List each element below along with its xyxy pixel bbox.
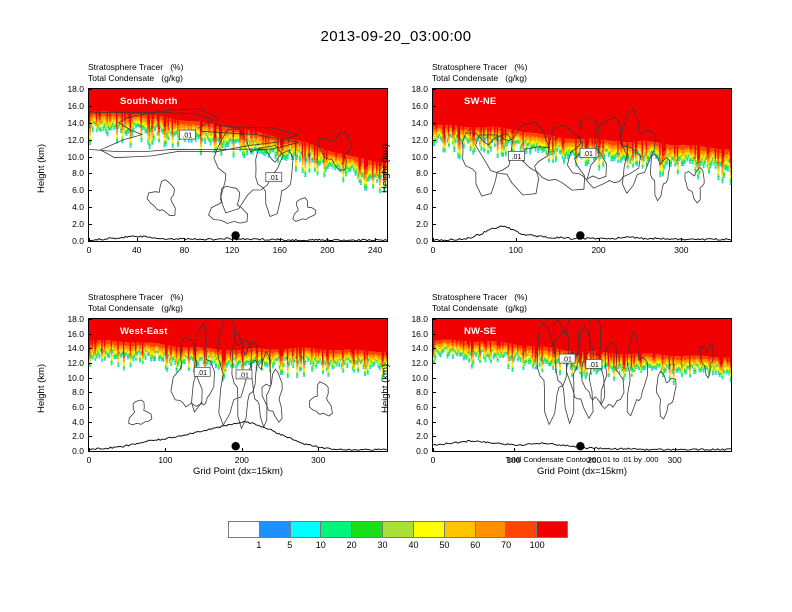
header-condensate-label: Total Condensate (g/kg) [432,73,527,84]
y-tick-label: 16.0 [54,101,84,111]
x-tick-mark [184,238,185,242]
x-tick-label: 200 [222,455,262,465]
colorbar-swatch-1 [260,522,291,537]
x-tick-label: 300 [661,245,701,255]
header-condensate-label: Total Condensate (g/kg) [432,303,527,314]
svg-text:.01: .01 [182,133,192,140]
y-tick-mark [432,157,436,158]
y-tick-label: 2.0 [54,219,84,229]
panel-header-west-east: Stratosphere Tracer (%)Total Condensate … [88,292,183,313]
colorbar-labels: 1510203040506070100 [228,540,568,554]
y-tick-mark [432,319,436,320]
x-tick-mark [433,238,434,242]
y-tick-label: 10.0 [398,152,428,162]
y-tick-mark [88,378,92,379]
x-tick-mark [89,448,90,452]
y-tick-mark [432,173,436,174]
y-tick-label: 18.0 [54,84,84,94]
x-tick-label: 100 [496,245,536,255]
y-tick-label: 2.0 [398,431,428,441]
x-tick-mark [599,238,600,242]
x-tick-label: 300 [298,455,338,465]
y-tick-label: 14.0 [398,343,428,353]
y-tick-label: 12.0 [398,135,428,145]
x-tick-label: 200 [579,245,619,255]
x-tick-mark [433,448,434,452]
y-tick-mark [432,89,436,90]
y-tick-mark [432,190,436,191]
figure-title: 2013-09-20_03:00:00 [0,28,792,45]
colorbar-tick-label: 40 [398,540,428,550]
panel-label-nw-se: NW-SE [464,326,496,337]
colorbar-swatch-8 [476,522,507,537]
y-tick-label: 14.0 [54,118,84,128]
colorbar-swatch-5 [383,522,414,537]
plot-render-sw-ne: .01.01 [433,89,731,241]
y-tick-label: 16.0 [398,101,428,111]
panel-header-sw-ne: Stratosphere Tracer (%)Total Condensate … [432,62,527,83]
x-tick-label: 160 [260,245,300,255]
x-tick-label: 0 [413,245,453,255]
y-tick-label: 12.0 [54,358,84,368]
x-tick-mark [516,238,517,242]
header-condensate-label: Total Condensate (g/kg) [88,303,183,314]
panel-header-nw-se: Stratosphere Tracer (%)Total Condensate … [432,292,527,313]
y-tick-mark [432,224,436,225]
y-tick-mark [88,89,92,90]
y-tick-label: 10.0 [398,373,428,383]
y-tick-label: 6.0 [398,185,428,195]
colorbar [228,521,568,538]
svg-text:.01: .01 [583,151,593,158]
colorbar-tick-label: 20 [337,540,367,550]
y-axis-title: Height (km) [36,144,47,193]
y-axis-title: Height (km) [380,364,391,413]
x-tick-mark [280,238,281,242]
y-tick-mark [88,157,92,158]
y-tick-mark [432,422,436,423]
y-tick-mark [432,363,436,364]
y-tick-mark [432,348,436,349]
x-tick-label: 100 [145,455,185,465]
y-tick-label: 4.0 [54,202,84,212]
y-tick-label: 10.0 [54,152,84,162]
y-tick-label: 4.0 [398,202,428,212]
colorbar-tick-label: 10 [306,540,336,550]
plot-area-west-east[interactable]: .01.01 [88,318,388,452]
colorbar-swatch-9 [506,522,537,537]
y-tick-label: 8.0 [398,387,428,397]
header-tracer-label: Stratosphere Tracer (%) [432,292,527,303]
y-tick-mark [88,140,92,141]
y-tick-mark [88,106,92,107]
x-axis-title: Grid Point (dx=15km) [432,466,732,477]
y-tick-mark [88,407,92,408]
colorbar-swatch-3 [321,522,352,537]
svg-text:.01: .01 [512,154,522,161]
y-tick-mark [88,173,92,174]
header-tracer-label: Stratosphere Tracer (%) [432,62,527,73]
colorbar-swatch-2 [291,522,322,537]
x-tick-mark [165,448,166,452]
y-tick-label: 16.0 [54,329,84,339]
y-tick-mark [432,207,436,208]
x-tick-label: 200 [307,245,347,255]
plot-area-sw-ne[interactable]: .01.01 [432,88,732,242]
colorbar-tick-label: 100 [522,540,552,550]
y-tick-mark [432,140,436,141]
plot-area-nw-se[interactable]: .01.01 [432,318,732,452]
panel-label-sw-ne: SW-NE [464,96,496,107]
y-tick-label: 4.0 [54,417,84,427]
y-tick-label: 18.0 [398,84,428,94]
y-tick-label: 4.0 [398,417,428,427]
y-tick-mark [432,334,436,335]
colorbar-swatch-6 [414,522,445,537]
y-tick-label: 8.0 [54,387,84,397]
y-tick-label: 6.0 [398,402,428,412]
y-tick-label: 8.0 [54,168,84,178]
y-tick-mark [88,422,92,423]
header-condensate-label: Total Condensate (g/kg) [88,73,183,84]
x-tick-mark [232,238,233,242]
y-tick-mark [432,436,436,437]
y-tick-mark [88,319,92,320]
y-tick-mark [88,392,92,393]
x-axis-title: Grid Point (dx=15km) [88,466,388,477]
x-tick-mark [137,238,138,242]
y-tick-label: 16.0 [398,329,428,339]
y-tick-mark [88,334,92,335]
y-tick-label: 2.0 [54,431,84,441]
panel-label-west-east: West-East [120,326,168,337]
colorbar-tick-label: 50 [429,540,459,550]
y-tick-label: 12.0 [54,135,84,145]
y-tick-label: 10.0 [54,373,84,383]
y-tick-label: 8.0 [398,168,428,178]
y-tick-mark [88,123,92,124]
x-tick-mark [675,448,676,452]
y-tick-mark [432,106,436,107]
y-tick-mark [432,392,436,393]
panel-label-south-north: South-North [120,96,178,107]
x-tick-mark [327,238,328,242]
y-tick-label: 12.0 [398,358,428,368]
colorbar-swatch-10 [537,522,567,537]
x-tick-label: 40 [117,245,157,255]
colorbar-tick-label: 70 [491,540,521,550]
header-tracer-label: Stratosphere Tracer (%) [88,62,183,73]
y-tick-label: 14.0 [54,343,84,353]
y-tick-mark [88,436,92,437]
panel-header-south-north: Stratosphere Tracer (%)Total Condensate … [88,62,183,83]
x-tick-mark [242,448,243,452]
header-tracer-label: Stratosphere Tracer (%) [88,292,183,303]
x-tick-mark [514,448,515,452]
y-tick-mark [432,123,436,124]
y-tick-label: 6.0 [54,185,84,195]
plot-render-nw-se: .01.01 [433,319,731,451]
colorbar-tick-label: 5 [275,540,305,550]
x-tick-label: 120 [212,245,252,255]
plot-render-west-east: .01.01 [89,319,387,451]
y-axis-title: Height (km) [36,364,47,413]
y-tick-mark [88,207,92,208]
plot-area-south-north[interactable]: .01.01 [88,88,388,242]
svg-text:.01: .01 [269,175,279,182]
x-tick-mark [594,448,595,452]
x-tick-mark [89,238,90,242]
x-tick-label: 0 [69,455,109,465]
y-tick-label: 2.0 [398,219,428,229]
colorbar-swatch-4 [352,522,383,537]
colorbar-tick-label: 1 [244,540,274,550]
x-tick-label: 80 [164,245,204,255]
x-tick-mark [375,238,376,242]
x-tick-mark [318,448,319,452]
colorbar-tick-label: 60 [460,540,490,550]
y-tick-label: 18.0 [398,314,428,324]
y-tick-mark [88,224,92,225]
plot-render-south-north: .01.01 [89,89,387,241]
x-tick-label: 240 [355,245,395,255]
y-axis-title: Height (km) [380,144,391,193]
colorbar-swatch-0 [229,522,260,537]
y-tick-label: 6.0 [54,402,84,412]
y-tick-mark [88,190,92,191]
x-tick-label: 0 [69,245,109,255]
y-tick-label: 18.0 [54,314,84,324]
contour-note: Total Condensate Contours: .01 to .01 by… [432,455,732,464]
y-tick-label: 14.0 [398,118,428,128]
x-tick-mark [681,238,682,242]
y-tick-mark [432,407,436,408]
y-tick-mark [88,363,92,364]
y-tick-mark [432,378,436,379]
colorbar-swatch-7 [445,522,476,537]
colorbar-tick-label: 30 [368,540,398,550]
y-tick-mark [88,348,92,349]
figure-canvas: 2013-09-20_03:00:00 Stratosphere Tracer … [0,0,792,612]
